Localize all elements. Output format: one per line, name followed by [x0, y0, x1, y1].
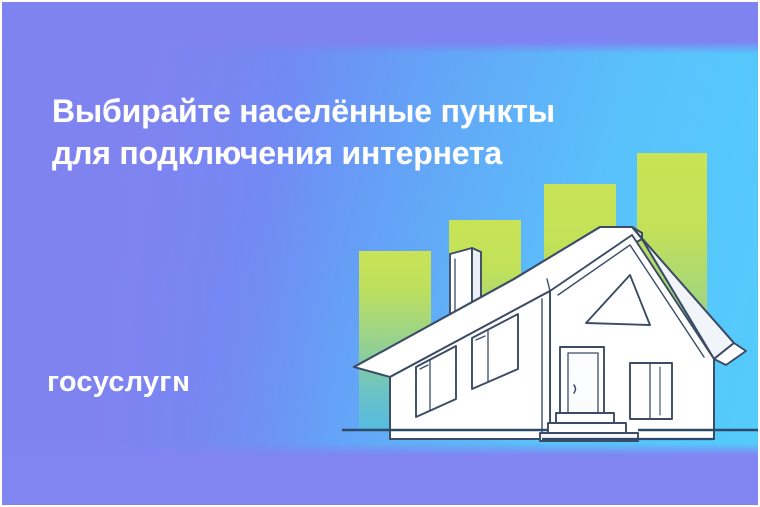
banner-background [2, 2, 758, 505]
house-illustration [342, 217, 758, 447]
brand-name-stem: госуслуг [47, 366, 172, 398]
gosuslugi-promo-banner: Выбирайте населённые пункты для подключе… [0, 0, 760, 507]
brand-name-tail: и [172, 366, 190, 399]
page-title: Выбирайте населённые пункты для подключе… [52, 90, 652, 174]
window-right [630, 363, 672, 419]
gosuslugi-logo: госуслуги [47, 366, 190, 399]
